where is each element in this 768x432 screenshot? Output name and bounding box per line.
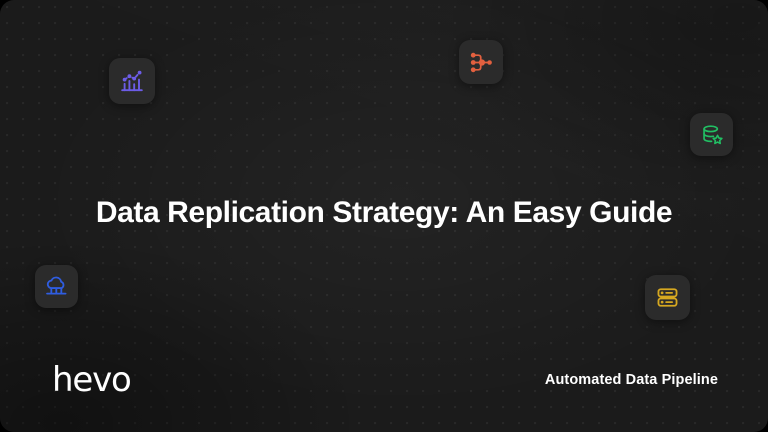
database-star-icon: [700, 123, 724, 147]
network-nodes-icon: [469, 50, 494, 75]
footer-bar: hevo Automated Data Pipeline: [0, 360, 768, 400]
hevo-logo: hevo: [52, 363, 131, 397]
cloud-network-icon: [44, 274, 69, 299]
server-rack-icon: [655, 285, 680, 310]
bar-chart-trend-icon: [119, 68, 145, 94]
database-star-icon-tile: [690, 113, 733, 156]
cloud-network-icon-tile: [35, 265, 78, 308]
network-nodes-icon-tile: [459, 40, 503, 84]
poster-canvas: Data Replication Strategy: An Easy Guide…: [0, 0, 768, 432]
tagline-text: Automated Data Pipeline: [545, 371, 718, 389]
page-title: Data Replication Strategy: An Easy Guide: [0, 193, 768, 233]
bar-chart-trend-icon-tile: [109, 58, 155, 104]
server-rack-icon-tile: [645, 275, 690, 320]
